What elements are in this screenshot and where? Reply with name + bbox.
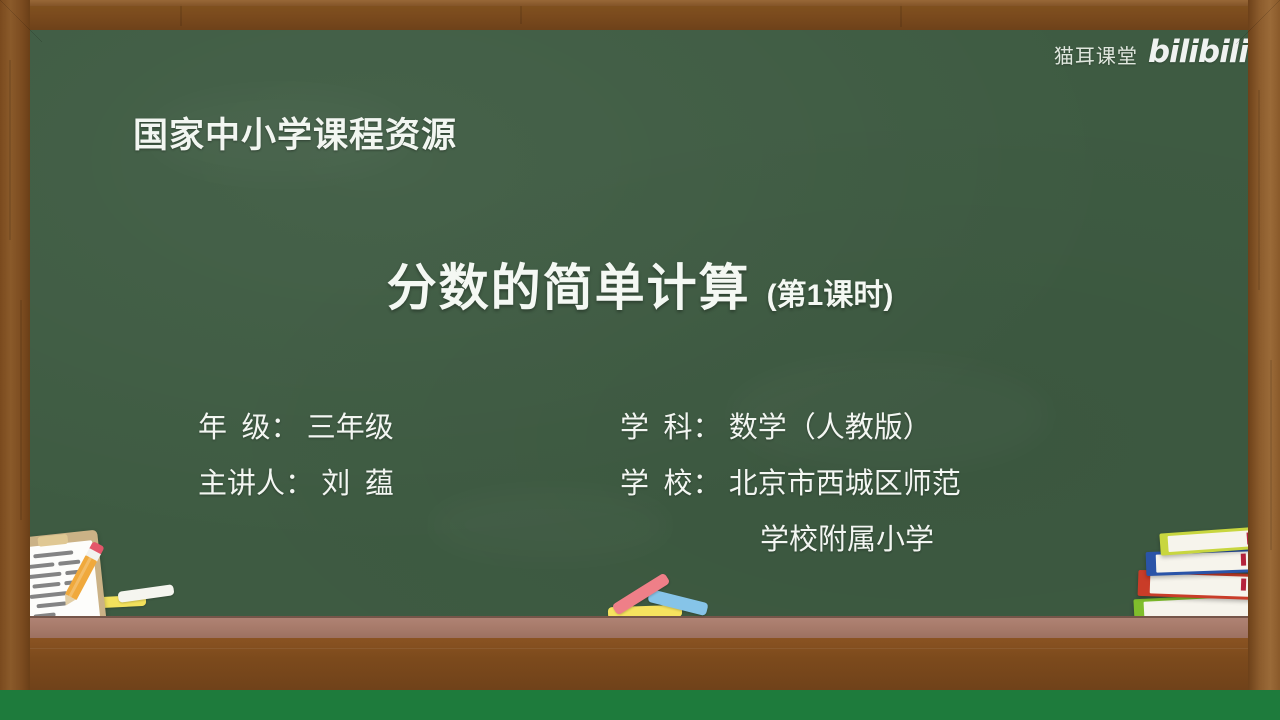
lesson-info-left-column: 年 级： 三年级 主讲人： 刘 蕴 — [198, 400, 394, 512]
watermark: 猫耳课堂 bilibili — [1054, 36, 1248, 72]
frame-corner-left — [0, 0, 42, 42]
lesson-part-label: (第1课时) — [767, 270, 894, 314]
info-school-cont: 学校附属小学 — [620, 512, 961, 568]
lesson-title: 分数的简单计算 — [387, 248, 751, 320]
page-title: 国家中小学课程资源 — [133, 107, 457, 158]
info-school: 学 校： 北京市西城区师范 — [620, 456, 961, 512]
bottom-green-band — [0, 690, 1280, 720]
frame-right — [1248, 0, 1280, 690]
frame-left — [0, 0, 30, 690]
frame-corner-right — [1236, 0, 1280, 44]
info-grade: 年 级： 三年级 — [198, 400, 394, 456]
bilibili-logo-icon: bilibili — [1148, 34, 1248, 70]
lesson-info-right-column: 学 科： 数学（人教版） 学 校： 北京市西城区师范 学校附属小学 — [620, 400, 961, 568]
lesson-title-row: 分数的简单计算 (第1课时) — [0, 248, 1280, 320]
watermark-channel-label: 猫耳课堂 — [1054, 40, 1138, 69]
frame-top — [0, 0, 1280, 30]
chalk-ledge-front — [0, 638, 1280, 690]
info-teacher: 主讲人： 刘 蕴 — [198, 456, 394, 512]
slide-stage: 国家中小学课程资源 分数的简单计算 (第1课时) 年 级： 三年级 主讲人： 刘… — [0, 0, 1280, 720]
info-subject: 学 科： 数学（人教版） — [620, 400, 961, 456]
chalk-ledge-top — [0, 616, 1280, 638]
clipboard-decoration — [14, 528, 124, 628]
